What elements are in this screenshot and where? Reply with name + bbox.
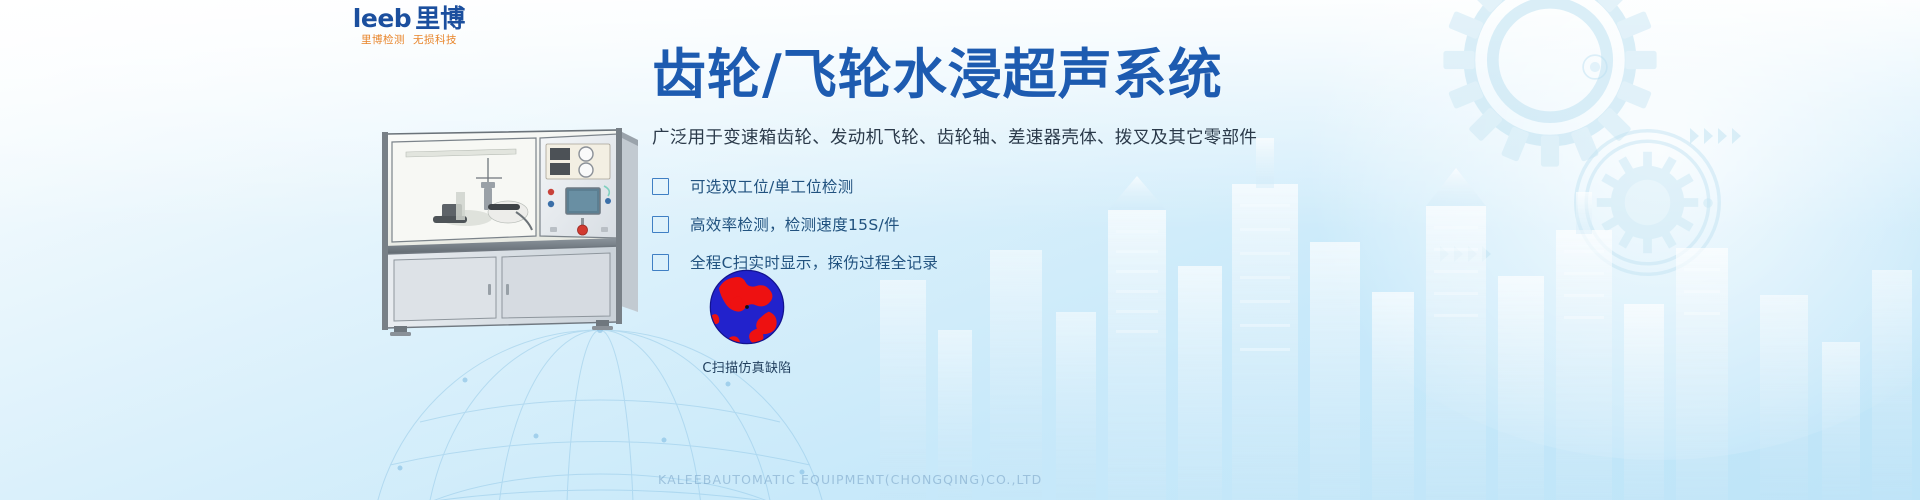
logo-tagline: 里博检测无损科技 — [348, 35, 470, 46]
hero-subtitle: 广泛用于变速箱齿轮、发动机飞轮、齿轮轴、差速器壳体、拨叉及其它零部件 — [652, 124, 1352, 149]
ultrasonic-inspection-machine-photo — [338, 100, 648, 340]
gear-icon — [1420, 0, 1680, 190]
cscan-caption: C扫描仿真缺陷 — [672, 357, 822, 376]
hero-text-block: 齿轮/飞轮水浸超声系统 广泛用于变速箱齿轮、发动机飞轮、齿轮轴、差速器壳体、拨叉… — [652, 46, 1352, 283]
list-item: 可选双工位/单工位检测 — [652, 169, 1352, 203]
checkbox-square-icon — [652, 178, 669, 195]
cscan-sample: C扫描仿真缺陷 — [672, 268, 822, 376]
feature-list: 可选双工位/单工位检测 高效率检测，检测速度15S/件 全程C扫实时显示，探伤过… — [652, 169, 1352, 279]
logo-wordmark: leeb里博 — [348, 6, 470, 31]
list-item: 高效率检测，检测速度15S/件 — [652, 207, 1352, 241]
cscan-defect-map-image — [708, 268, 786, 346]
right-glow — [1280, 0, 1920, 460]
page-title: 齿轮/飞轮水浸超声系统 — [652, 46, 1352, 104]
checkbox-square-icon — [652, 216, 669, 233]
logo-latin-text: leeb — [353, 4, 411, 33]
brand-logo[interactable]: leeb里博 里博检测无损科技 — [348, 6, 470, 46]
chevron-arrows-icon — [1690, 125, 1750, 147]
target-icon — [1578, 50, 1612, 84]
logo-chinese-text: 里博 — [415, 4, 465, 33]
checkbox-square-icon — [652, 254, 669, 271]
company-name-watermark: KALEEBAUTOMATIC EQUIPMENT(CHONGQING)CO.,… — [658, 472, 1042, 487]
logo-tagline-right: 无损科技 — [413, 34, 457, 46]
product-hero-banner: leeb里博 里博检测无损科技 — [0, 0, 1920, 500]
logo-tagline-left: 里博检测 — [361, 34, 405, 46]
feature-label: 可选双工位/单工位检测 — [690, 175, 854, 197]
dot-icon — [1700, 195, 1716, 211]
gear-icon — [1560, 115, 1735, 290]
chevron-arrows-icon — [1440, 243, 1500, 265]
feature-label: 高效率检测，检测速度15S/件 — [690, 213, 900, 235]
